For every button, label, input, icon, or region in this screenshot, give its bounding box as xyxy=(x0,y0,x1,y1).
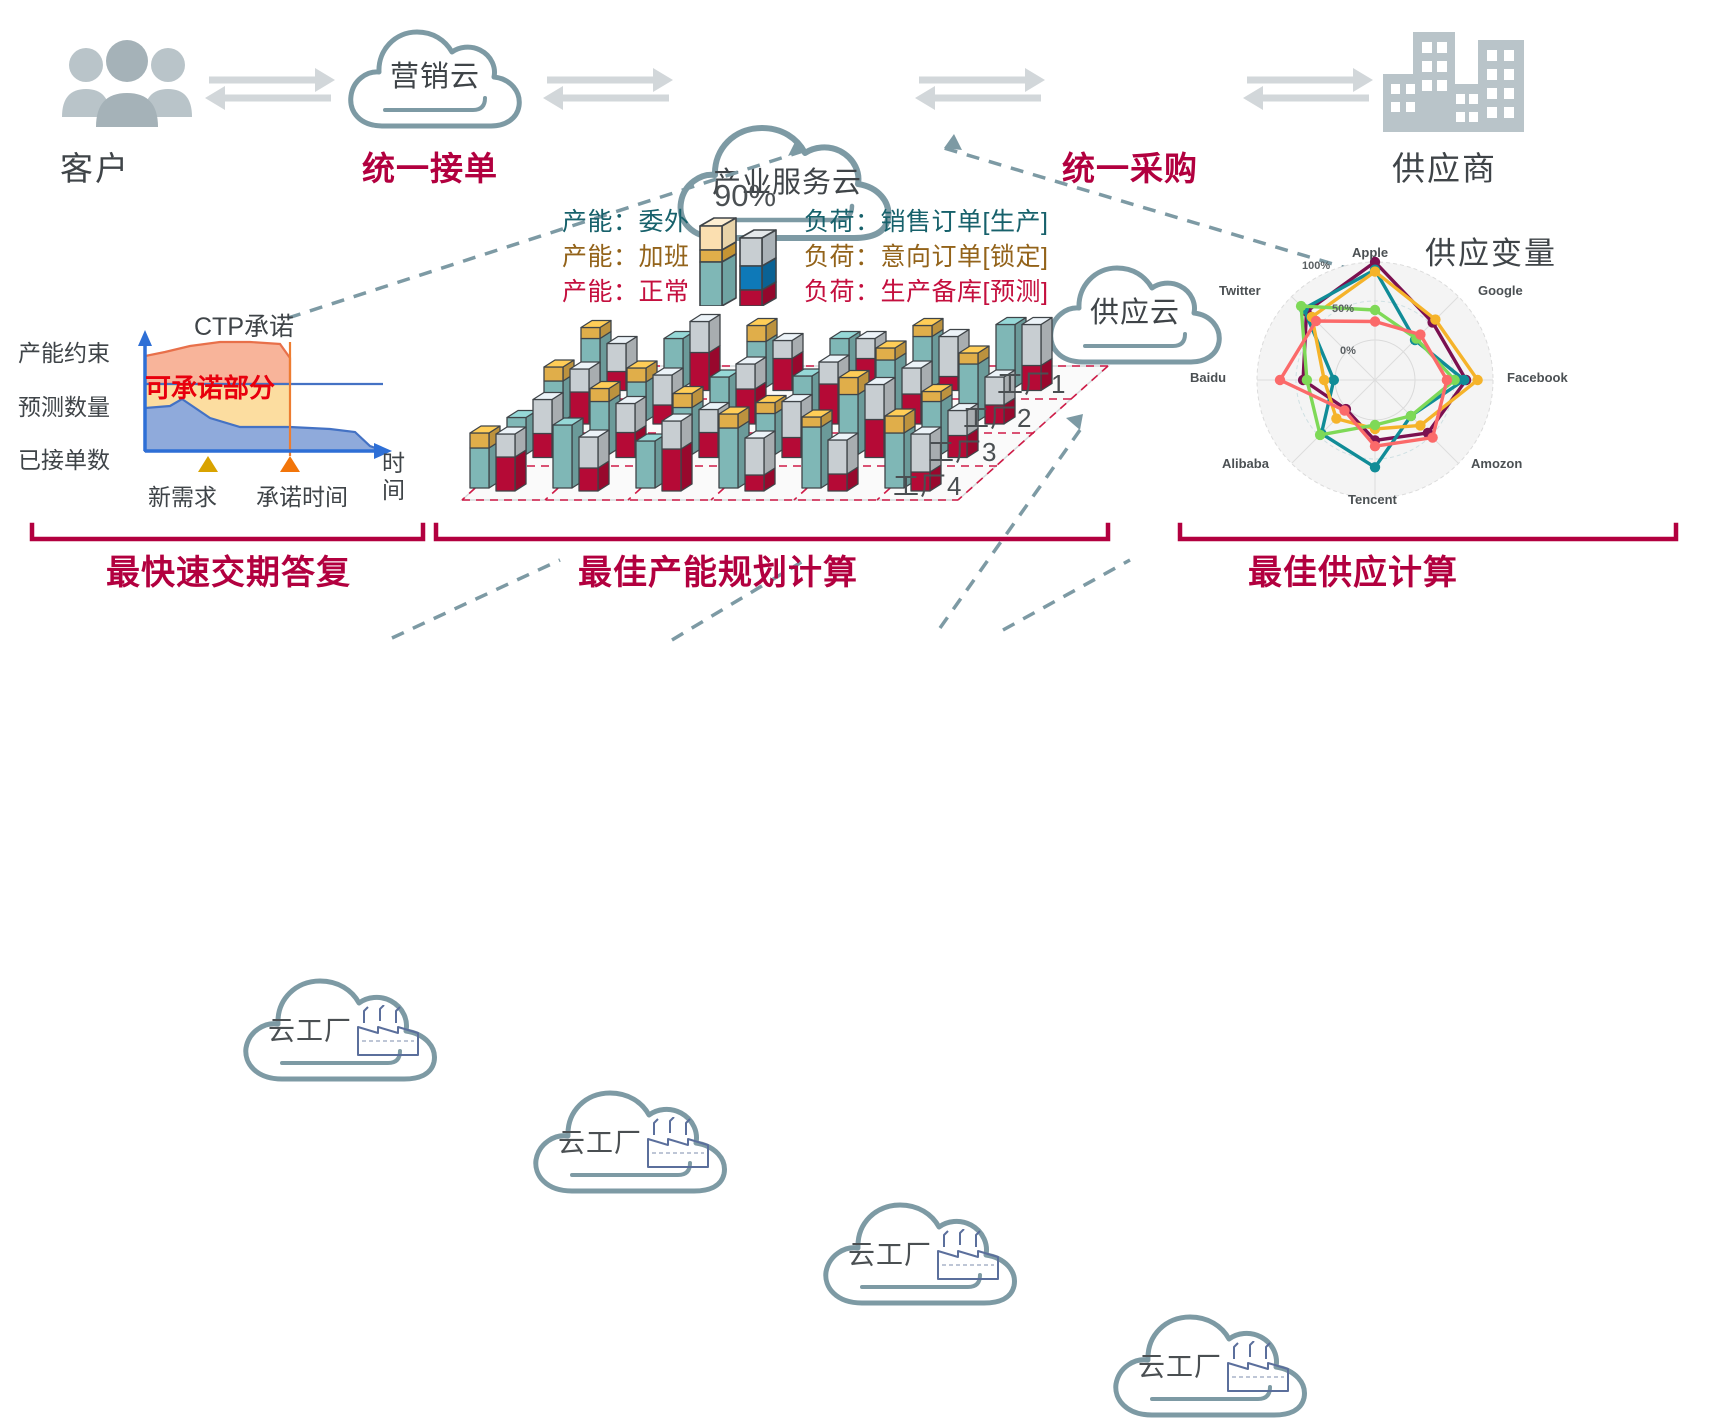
radar-tick-100: 100% xyxy=(1302,260,1330,272)
cloud-marketing[interactable]: 营销云 xyxy=(345,22,525,134)
section-heading-capacity-planning: 最佳产能规划计算 xyxy=(578,545,858,594)
radar-axis-label-facebook: Facebook xyxy=(1507,370,1568,385)
section-heading-fastest-delivery: 最快速交期答复 xyxy=(106,545,351,594)
radar-data-point xyxy=(1331,413,1341,423)
radar-data-point xyxy=(1339,405,1349,415)
radar-data-point xyxy=(1296,301,1306,311)
radar-data-point xyxy=(1302,375,1312,385)
buildings-icon xyxy=(1383,28,1533,136)
radar-axis-label-amozon: Amozon xyxy=(1471,456,1522,471)
radar-data-point xyxy=(1319,375,1329,385)
radar-axis-label-tencent: Tencent xyxy=(1348,492,1397,507)
radar-axis-label-google: Google xyxy=(1478,283,1523,298)
factory-icon xyxy=(1226,1341,1298,1401)
radar-data-point xyxy=(1406,411,1416,421)
bottom-cloud-factory-2[interactable]: 云工厂 xyxy=(528,1085,738,1197)
ctp-y-label-capacity: 产能约束 xyxy=(18,334,110,368)
radar-tick-0: 0% xyxy=(1340,345,1356,357)
radar-axis-label-twitter: Twitter xyxy=(1219,283,1261,298)
radar-data-point xyxy=(1329,375,1339,385)
radar-data-point xyxy=(1442,375,1452,385)
factory-icon xyxy=(936,1229,1008,1289)
radar-axis-label-alibaba: Alibaba xyxy=(1222,456,1269,471)
factory-label-4: 工厂4 xyxy=(893,466,962,503)
radar-tick-50: 50% xyxy=(1332,303,1354,315)
ctp-marker-label-promise-time: 承诺时间 xyxy=(256,478,348,512)
radar-chart xyxy=(1225,240,1525,520)
radar-data-point xyxy=(1472,375,1482,385)
bottom-cloud-factory-4[interactable]: 云工厂 xyxy=(1108,1309,1318,1421)
bottom-cloud-factory-1[interactable]: 云工厂 xyxy=(238,973,448,1085)
ctp-x-axis-label-line2: 间 xyxy=(382,477,405,504)
ctp-inner-label: 可承诺部分 xyxy=(145,368,275,405)
section-brackets xyxy=(0,515,1720,545)
section-heading-supply-calc: 最佳供应计算 xyxy=(1248,545,1458,594)
ctp-marker-label-new-demand: 新需求 xyxy=(148,478,217,512)
ctp-y-label-forecast: 预测数量 xyxy=(18,388,110,422)
ctp-x-axis-label-line1: 时 xyxy=(382,450,405,477)
exchange-arrows-2 xyxy=(543,60,673,125)
radar-data-point xyxy=(1370,266,1380,276)
radar-data-point xyxy=(1370,316,1380,326)
legend-item-sales-order: 负荷：销售订单[生产] xyxy=(804,205,1048,240)
radar-data-point xyxy=(1415,420,1425,430)
radar-data-point xyxy=(1370,462,1380,472)
radar-data-point xyxy=(1315,430,1325,440)
factory-label-1: 工厂1 xyxy=(997,364,1066,401)
marker-promise-time xyxy=(280,456,300,472)
people-icon xyxy=(48,35,208,135)
factory-label-2: 工厂2 xyxy=(963,398,1032,435)
factory-icon xyxy=(356,1005,428,1065)
radar-data-point xyxy=(1430,314,1440,324)
radar-data-point xyxy=(1311,316,1321,326)
supplier-group xyxy=(1383,28,1533,136)
cloud-marketing-label: 营销云 xyxy=(345,22,525,134)
radar-data-point xyxy=(1370,305,1380,315)
marker-new-demand xyxy=(198,456,218,472)
exchange-arrows-3 xyxy=(915,60,1045,125)
radar-data-point xyxy=(1459,375,1469,385)
supplier-label: 供应商 xyxy=(1392,142,1497,190)
factory-label-3: 工厂3 xyxy=(928,432,997,469)
exchange-arrows-4 xyxy=(1243,60,1373,125)
radar-data-point xyxy=(1370,420,1380,430)
legend-item-outsourcing: 产能：委外 xyxy=(562,205,690,240)
radar-data-point xyxy=(1427,432,1437,442)
cloud-marketing-caption: 统一接单 xyxy=(362,142,498,190)
bottom-cloud-factory-3[interactable]: 云工厂 xyxy=(818,1197,1028,1309)
radar-axis-label-apple: Apple xyxy=(1352,245,1388,260)
cloud-supply-caption: 统一采购 xyxy=(1062,142,1198,190)
radar-data-point xyxy=(1370,441,1380,451)
ctp-x-axis-label: 时 间 xyxy=(382,450,405,504)
arrowhead xyxy=(944,134,962,150)
radar-data-point xyxy=(1415,329,1425,339)
exchange-arrows-1 xyxy=(205,60,335,125)
customer-label: 客户 xyxy=(60,142,130,190)
customer-group xyxy=(48,35,208,135)
radar-axis-label-baidu: Baidu xyxy=(1190,370,1226,385)
ctp-y-label-booked: 已接单数 xyxy=(18,441,110,475)
factory-icon xyxy=(646,1117,718,1177)
radar-data-point xyxy=(1275,375,1285,385)
